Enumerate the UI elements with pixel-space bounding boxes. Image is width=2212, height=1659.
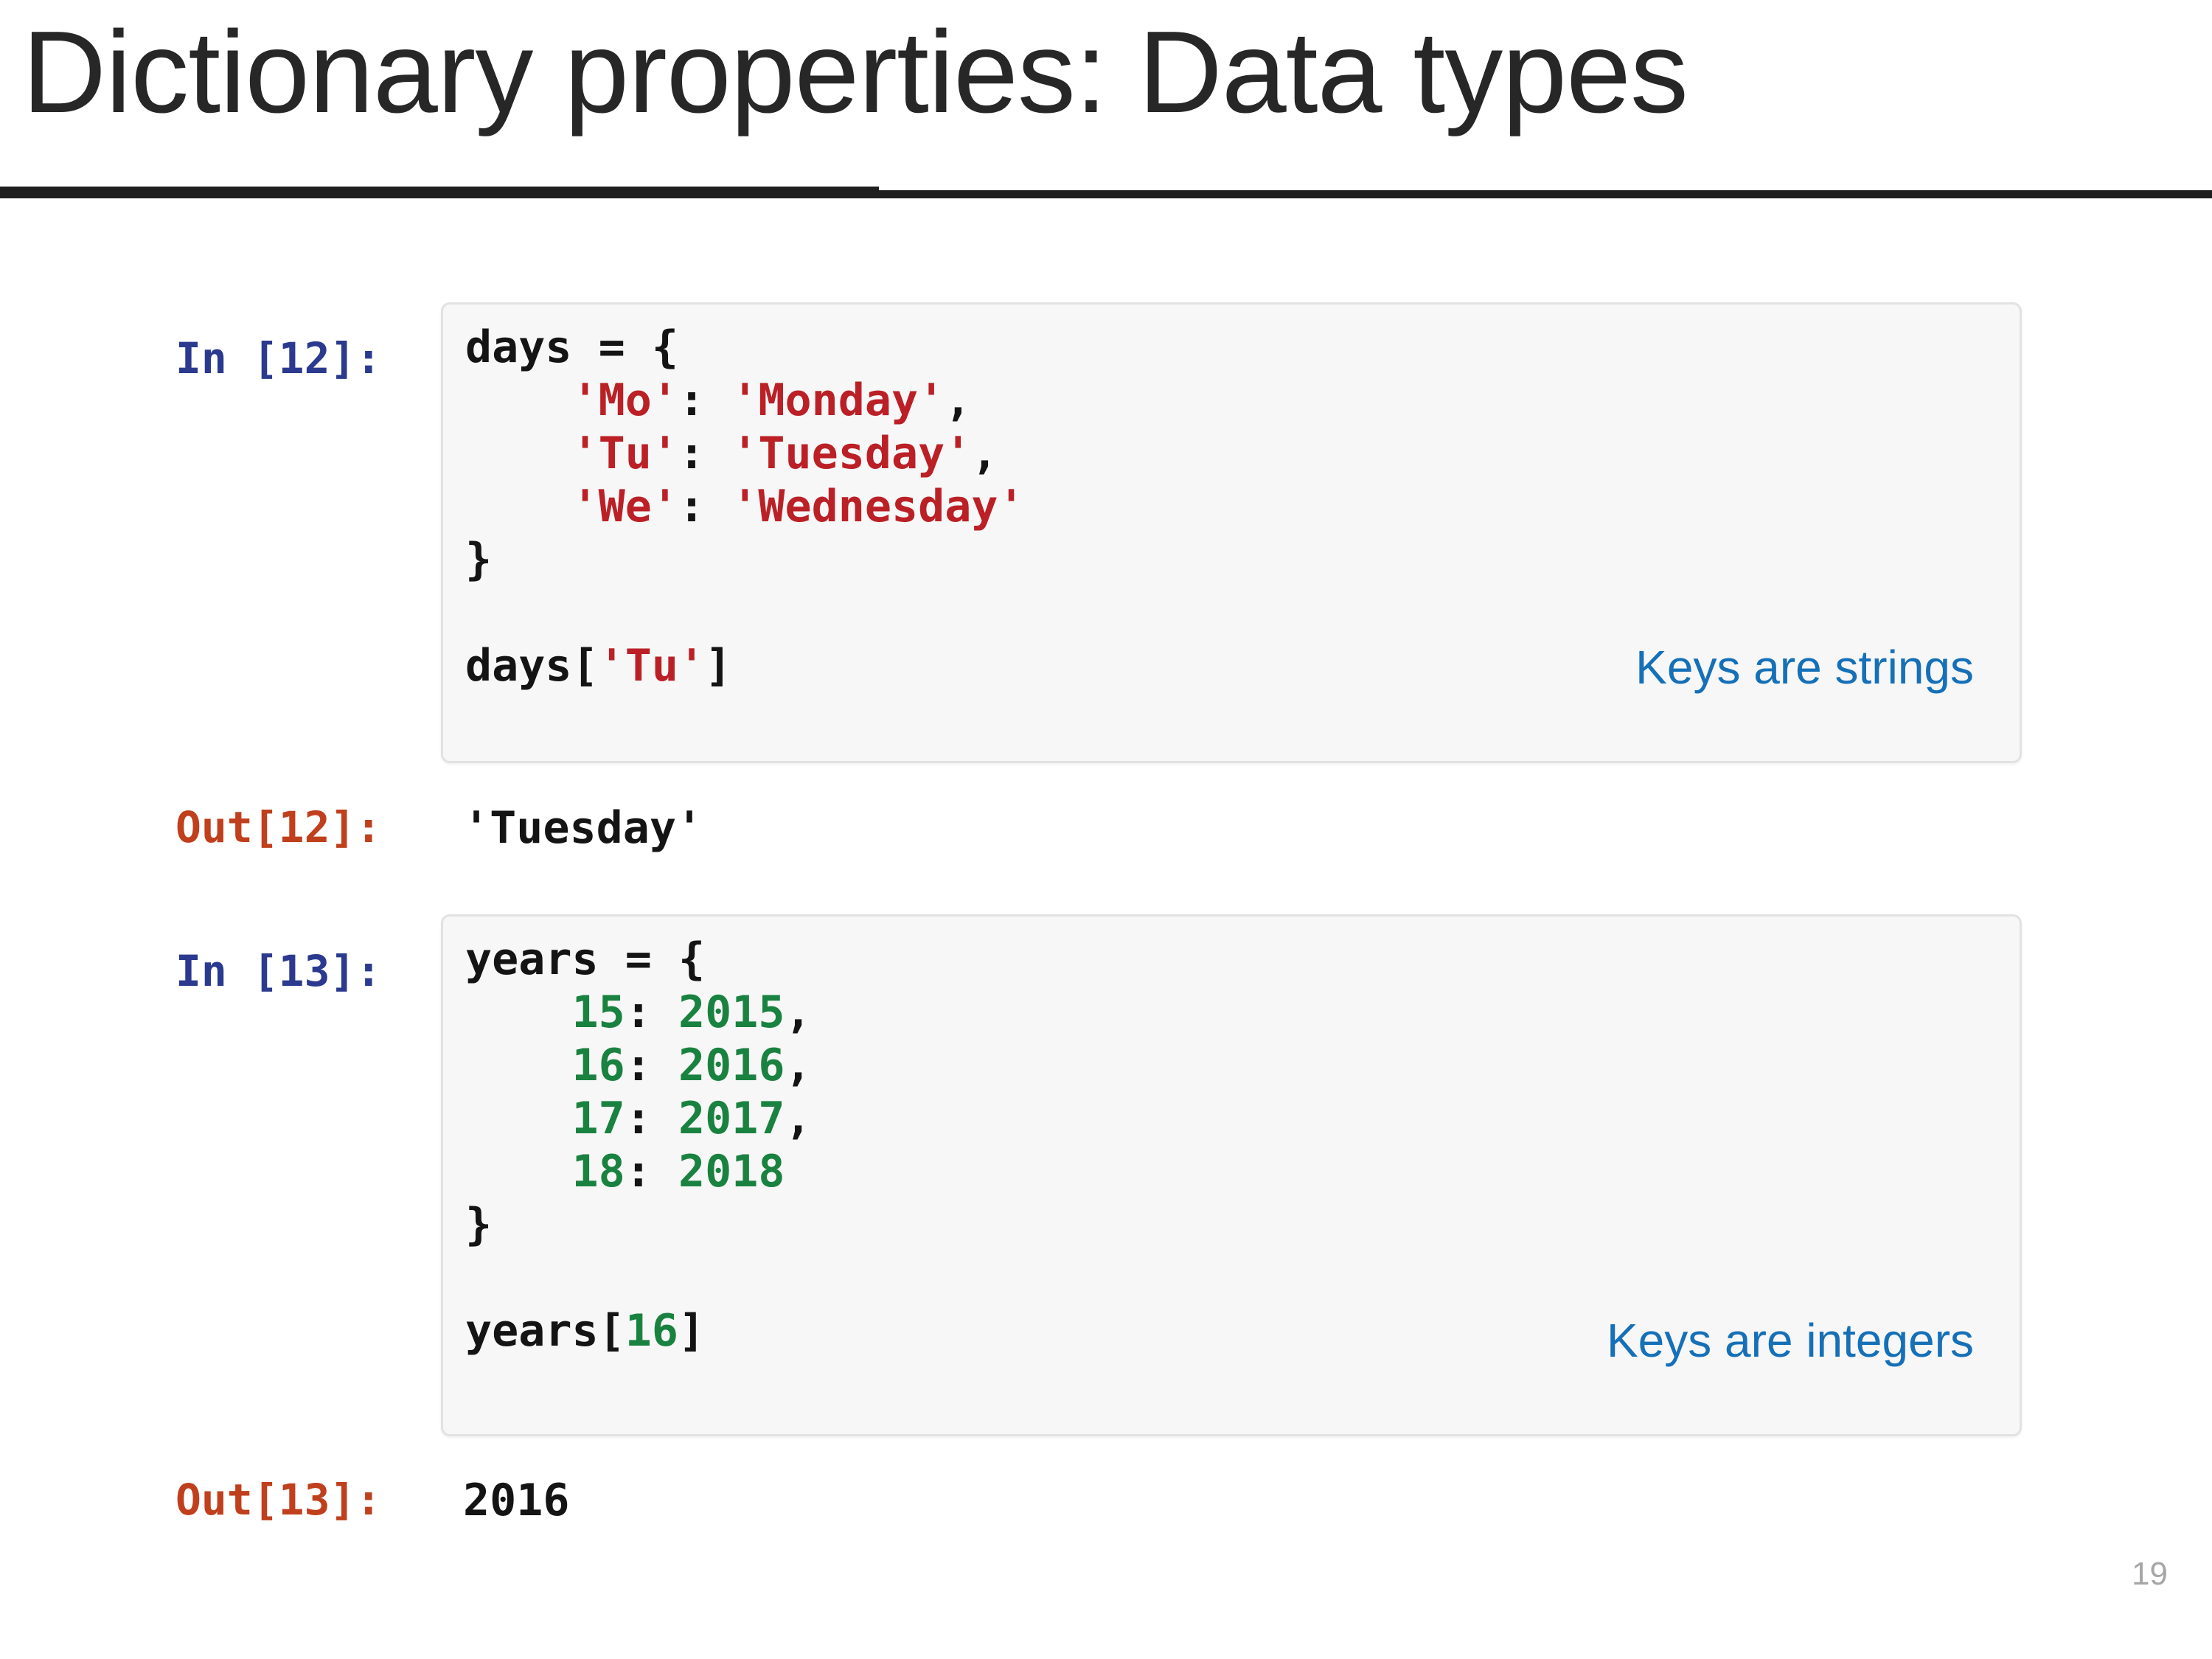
code-line: 16: 2016,	[465, 1040, 812, 1091]
token-bracket-open: [	[572, 640, 599, 692]
code-line: }	[465, 1199, 492, 1251]
code-line: years = {	[465, 933, 705, 985]
token-brace-close: }	[465, 534, 492, 585]
token-colon: :	[678, 375, 705, 426]
token-comma: ,	[785, 1040, 812, 1091]
code-line: 15: 2015,	[465, 987, 812, 1038]
token-bracket-open: [	[599, 1305, 625, 1357]
prompt-out-12: Out[12]:	[175, 802, 381, 852]
token-value: 'Monday'	[731, 375, 945, 426]
annotation-keys-are-integers: Keys are integers	[1607, 1313, 1974, 1368]
token-brace-close: }	[465, 1199, 492, 1251]
token-value: 2018	[678, 1146, 785, 1197]
token-key: 'Mo'	[572, 375, 679, 426]
code-line: 18: 2018	[465, 1146, 785, 1197]
code-line: 'Mo': 'Monday',	[465, 375, 971, 426]
token-comma: ,	[785, 987, 812, 1038]
token-value: 2016	[678, 1040, 785, 1091]
token-name: days	[465, 640, 572, 692]
code-line: 17: 2017,	[465, 1093, 812, 1144]
prompt-in-13: In [13]:	[175, 946, 381, 996]
prompt-in-12: In [12]:	[175, 333, 381, 383]
token-operator: =	[599, 321, 625, 373]
prompt-out-13: Out[13]:	[175, 1475, 381, 1525]
code-line: }	[465, 534, 492, 585]
output-value-12: 'Tuesday'	[463, 802, 703, 854]
token-name: years	[465, 1305, 599, 1357]
title-divider-accent	[0, 187, 879, 198]
token-value: 2017	[678, 1093, 785, 1144]
token-key: 'We'	[572, 481, 679, 532]
code-line: days = {	[465, 321, 678, 373]
code-line: 'Tu': 'Tuesday',	[465, 428, 998, 479]
code-line: years[16]	[465, 1305, 705, 1357]
token-colon: :	[678, 481, 705, 532]
token-comma: ,	[945, 375, 971, 426]
code-cell-13[interactable]: years = { 15: 2015, 16: 2016, 17: 2017, …	[441, 914, 2022, 1436]
token-value: 'Tuesday'	[731, 428, 971, 479]
token-key: 16	[625, 1305, 678, 1357]
code-body-12[interactable]: days = { 'Mo': 'Monday', 'Tu': 'Tuesday'…	[465, 321, 1025, 692]
token-colon: :	[678, 428, 705, 479]
token-name: years	[465, 933, 599, 985]
token-comma: ,	[971, 428, 998, 479]
token-bracket-close: ]	[678, 1305, 705, 1357]
token-brace-open: {	[652, 321, 678, 373]
token-value: 2015	[678, 987, 785, 1038]
token-key: 'Tu'	[599, 640, 706, 692]
annotation-keys-are-strings: Keys are strings	[1635, 640, 1974, 695]
token-name: days	[465, 321, 572, 373]
token-key: 15	[572, 987, 625, 1038]
page-title: Dictionary properties: Data types	[22, 6, 1688, 140]
token-value: 'Wednesday'	[731, 481, 1024, 532]
token-colon: :	[625, 1146, 652, 1197]
code-line: 'We': 'Wednesday'	[465, 481, 1025, 532]
token-colon: :	[625, 1093, 652, 1144]
code-line: days['Tu']	[465, 640, 731, 692]
token-key: 16	[572, 1040, 625, 1091]
token-key: 'Tu'	[572, 428, 679, 479]
token-operator: =	[625, 933, 652, 985]
code-body-13[interactable]: years = { 15: 2015, 16: 2016, 17: 2017, …	[465, 933, 812, 1357]
token-colon: :	[625, 987, 652, 1038]
token-key: 18	[572, 1146, 625, 1197]
token-bracket-close: ]	[705, 640, 731, 692]
code-cell-12[interactable]: days = { 'Mo': 'Monday', 'Tu': 'Tuesday'…	[441, 302, 2022, 763]
token-key: 17	[572, 1093, 625, 1144]
output-value-13: 2016	[463, 1475, 570, 1526]
token-colon: :	[625, 1040, 652, 1091]
token-brace-open: {	[678, 933, 705, 985]
page-number: 19	[2132, 1556, 2168, 1593]
token-comma: ,	[785, 1093, 812, 1144]
